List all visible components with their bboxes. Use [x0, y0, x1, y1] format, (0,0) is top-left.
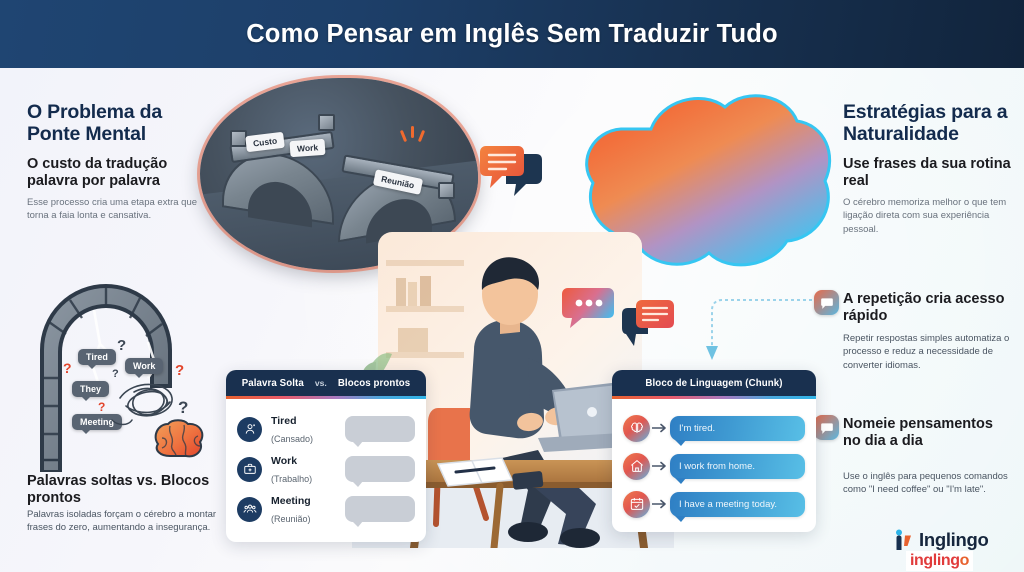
comparison-row: Meeting (Reunião) [237, 489, 415, 529]
brand-sub-text: ingling [910, 552, 960, 569]
comparison-header-left: Palavra Solta [242, 378, 304, 389]
comparison-word-pt: (Cansado) [271, 434, 313, 444]
arrow-right-icon [650, 499, 670, 509]
comparison-card-header: Palavra Solta vs. Blocos prontos [226, 370, 426, 396]
left-column-second-body: Palavras isoladas forçam o cérebro a mon… [27, 508, 217, 535]
brand-sub-wordmark: inglingo [906, 551, 973, 571]
brand-wordmark: Inglingo [919, 529, 989, 551]
chunk-header-label: Bloco de Linguagem (Chunk) [645, 378, 782, 389]
brain-icon [623, 415, 650, 442]
chunk-card-body: I'm tired. I work from ho [612, 399, 816, 523]
left-column-body: Esse processo cria uma etapa extra que t… [27, 196, 202, 223]
comparison-row-text: Work (Trabalho) [271, 451, 337, 487]
comparison-card-body: Tired (Cansado) Work (Trabalho) [226, 399, 426, 529]
empty-bubble-placeholder [345, 456, 415, 482]
right-column-heading: Estratégias para a Naturalidade [843, 101, 1021, 146]
infographic-root: Como Pensar em Inglês Sem Traduzir Tudo … [0, 0, 1024, 572]
comparison-word-pt: (Reunião) [271, 514, 311, 524]
message-lines-bubble-icon [620, 300, 674, 346]
comparison-row: Work (Trabalho) [237, 449, 415, 489]
home-icon [623, 453, 650, 480]
comparison-word-pt: (Trabalho) [271, 474, 312, 484]
chunk-row: I'm tired. [623, 409, 805, 447]
left-column-heading: O Problema da Ponte Mental [27, 101, 212, 146]
left-column-subheading: O custo da tradução palavra por palavra [27, 156, 212, 190]
naming-body: Use o inglês para pequenos comandos como… [843, 470, 1023, 497]
comparison-word-en: Work [271, 455, 297, 467]
brand-sub-tail: o [960, 552, 969, 569]
question-mark-icon: ? [63, 360, 72, 376]
dashed-connector-arrow [700, 292, 822, 366]
repetition-subheading: A repetição cria acesso rápido [843, 291, 1018, 325]
empty-bubble-placeholder [345, 496, 415, 522]
tangle-chip-they: They [72, 381, 109, 397]
chunk-row: I have a meeting today. [623, 485, 805, 523]
bridge-label-work: Work [289, 139, 325, 157]
message-icon [814, 415, 839, 440]
tangle-chip-tired: Tired [78, 349, 116, 365]
chat-bubble-icon [814, 290, 839, 315]
page-header: Como Pensar em Inglês Sem Traduzir Tudo [0, 0, 1024, 68]
page-title: Como Pensar em Inglês Sem Traduzir Tudo [246, 20, 778, 49]
chunk-phrase: I have a meeting today. [679, 499, 777, 510]
chunk-phrase-bubble: I'm tired. [670, 416, 805, 441]
bridge-pylon [318, 114, 335, 131]
comparison-row-text: Tired (Cansado) [271, 411, 337, 447]
chunk-card-header: Bloco de Linguagem (Chunk) [612, 370, 816, 396]
arrow-right-icon [650, 423, 670, 433]
chunk-card: Bloco de Linguagem (Chunk) [612, 370, 816, 532]
comparison-row: Tired (Cansado) [237, 409, 415, 449]
chunk-row: I work from home. [623, 447, 805, 485]
people-group-icon [237, 497, 262, 522]
question-mark-icon: ? [98, 400, 105, 414]
comparison-header-vs: vs. [315, 378, 327, 388]
chunk-phrase: I work from home. [679, 461, 755, 472]
right-column-body: O cérebro memoriza melhor o que tem liga… [843, 196, 1018, 236]
user-sad-icon [237, 417, 262, 442]
repetition-body: Repetir respostas simples automatiza o p… [843, 332, 1018, 372]
empty-bubble-placeholder [345, 416, 415, 442]
bridge-pylon [438, 182, 455, 199]
chunk-phrase-bubble: I have a meeting today. [670, 492, 805, 517]
comparison-row-text: Meeting (Reunião) [271, 491, 337, 527]
naming-subheading: Nomeie pensamentos no dia a dia [843, 416, 1013, 450]
brand-logo: Inglingo [892, 528, 989, 552]
inglingo-mark-icon [892, 528, 914, 552]
typing-bubble-icon [562, 286, 614, 328]
speech-bubble-pair-icon [480, 138, 544, 196]
arrow-right-icon [650, 461, 670, 471]
chunk-phrase: I'm tired. [679, 423, 715, 434]
right-column-subheading: Use frases da sua rotina real [843, 156, 1013, 190]
comparison-header-right: Blocos prontos [338, 378, 410, 389]
calendar-check-icon [623, 491, 650, 518]
chunk-phrase-bubble: I work from home. [670, 454, 805, 479]
left-column-second-subheading: Palavras soltas vs. Blocos prontos [27, 473, 222, 507]
question-mark-icon: ? [117, 337, 126, 354]
break-spark-icon [400, 126, 426, 150]
comparison-word-en: Tired [271, 415, 296, 427]
comparison-card: Palavra Solta vs. Blocos prontos Tired (… [226, 370, 426, 542]
briefcase-icon [237, 457, 262, 482]
comparison-word-en: Meeting [271, 495, 311, 507]
brain-icon [150, 418, 208, 462]
